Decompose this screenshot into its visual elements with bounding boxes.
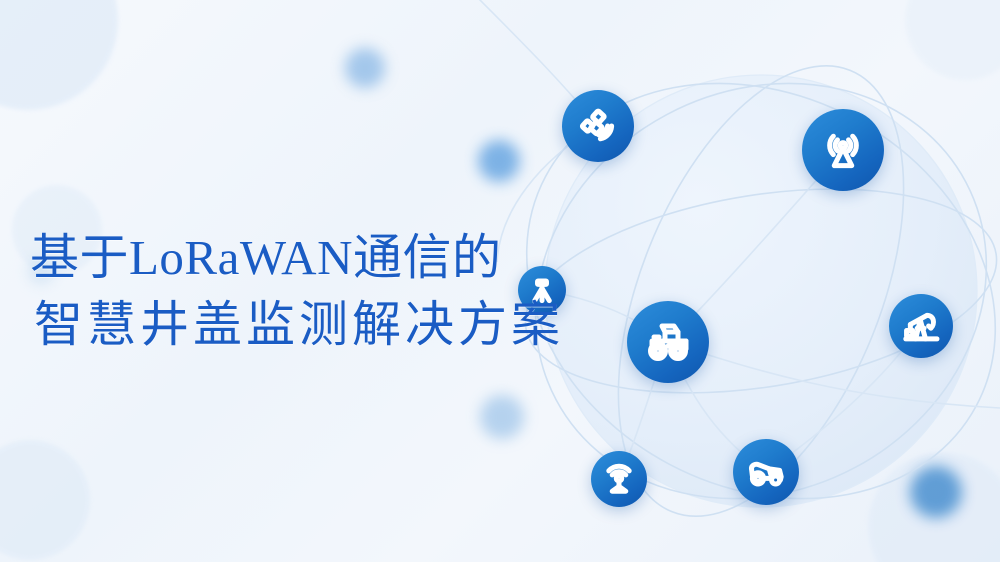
page-title: 基于LoRaWAN通信的 智慧井盖监测解决方案 bbox=[30, 225, 564, 358]
title-line-2: 智慧井盖监测解决方案 bbox=[30, 292, 564, 359]
wireless-beacon-icon bbox=[602, 462, 636, 496]
node-beacon[interactable] bbox=[591, 451, 647, 507]
harvester-machine-icon bbox=[746, 452, 786, 492]
oil-pumpjack-icon bbox=[902, 307, 940, 345]
node-satellite[interactable] bbox=[562, 90, 634, 162]
node-tractor[interactable] bbox=[627, 301, 709, 383]
title-line-1: 基于LoRaWAN通信的 bbox=[30, 225, 564, 292]
node-pumpjack[interactable] bbox=[889, 294, 953, 358]
satellite-icon bbox=[578, 106, 618, 146]
tractor-icon bbox=[643, 317, 693, 367]
presentation-slide: 基于LoRaWAN通信的 智慧井盖监测解决方案 bbox=[0, 0, 1000, 562]
node-harvester[interactable] bbox=[733, 439, 799, 505]
antenna-tower-icon bbox=[820, 127, 866, 173]
node-antenna[interactable] bbox=[802, 109, 884, 191]
